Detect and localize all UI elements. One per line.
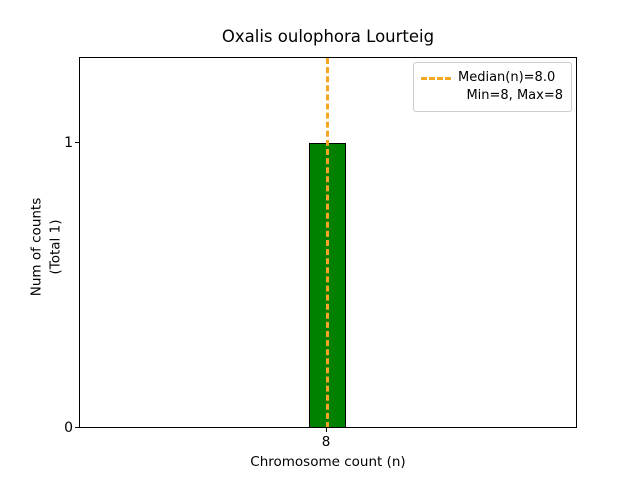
xtick-label-8: 8 bbox=[306, 434, 346, 450]
dashed-line-icon bbox=[421, 77, 451, 80]
x-axis-label: Chromosome count (n) bbox=[79, 454, 577, 470]
legend-item-minmax: Min=8, Max=8 bbox=[421, 87, 563, 105]
legend-box: Median(n)=8.0 Min=8, Max=8 bbox=[413, 62, 572, 112]
ytick-mark-1 bbox=[75, 142, 79, 143]
blank-swatch-icon bbox=[421, 95, 451, 98]
legend-label-median: Median(n)=8.0 bbox=[458, 69, 563, 87]
ytick-mark-0 bbox=[75, 427, 79, 428]
y-axis-label-wrapper: Num of counts (Total 1) bbox=[27, 62, 67, 433]
xtick-mark-8 bbox=[326, 428, 327, 432]
y-axis-label: Num of counts (Total 1) bbox=[28, 198, 66, 297]
plot-area bbox=[79, 57, 577, 428]
figure-canvas: Oxalis oulophora Lourteig 1 0 8 Chromoso… bbox=[0, 0, 640, 480]
page-title: Oxalis oulophora Lourteig bbox=[79, 27, 577, 47]
legend-label-minmax: Min=8, Max=8 bbox=[458, 87, 563, 105]
median-line bbox=[326, 58, 329, 428]
legend-item-median: Median(n)=8.0 bbox=[421, 69, 563, 87]
